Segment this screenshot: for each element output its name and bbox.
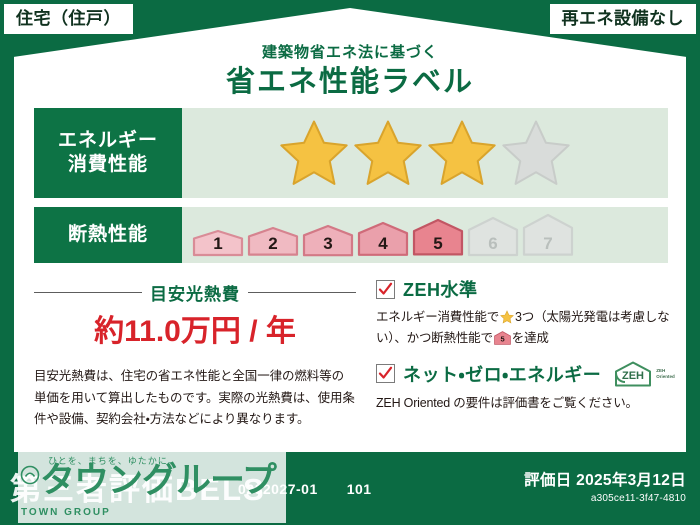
checkbox-zeh-standard[interactable] [376,280,395,299]
check-zeh-standard-head: ZEH水準 [376,276,675,302]
cost-section: 目安光熱費 約11.0万円 / 年 目安光熱費は、住宅の省エネ性能と全国一律の燃… [34,276,364,448]
check-net-zero-head: ネット・ゼロ・エネルギー ZEH ZEH Oriented [376,360,675,388]
logo-name-en: TOWN GROUP [21,507,111,518]
zeh-badge-sub: ZEH Oriented [656,368,675,378]
logo-name: タウングループ [40,463,276,498]
row-energy-label-line1: エネルギー [58,129,158,153]
zeh-section: ZEH水準 エネルギー消費性能で3つ（太陽光発電は考慮しない）、かつ断熱性能で5… [364,276,675,448]
inline-house-icon: 5 [494,331,511,345]
check-net-zero-title: ネット・ゼロ・エネルギー [403,361,601,387]
cost-note: 目安光熱費は、住宅の省エネ性能と全国一律の燃料等の単価を用いて算出したものです。… [34,366,356,431]
star-filled-icon [352,118,424,188]
insulation-grade-3: 3 [302,224,354,257]
insulation-grade-4: 4 [357,221,409,257]
svg-text:5: 5 [500,335,504,344]
energy-performance-label: 住宅（住戸） 再エネ設備なし 建築物省エネ法に基づく 省エネ性能ラベル エネルギ… [0,0,700,525]
check-net-zero-body: ZEH Oriented の要件は評価書をご覧ください。 [376,393,675,414]
checkbox-net-zero-energy[interactable] [376,364,395,383]
cost-rule-right [248,292,356,293]
star-filled-icon [426,118,498,188]
badge-renewable-energy: 再エネ設備なし [550,4,697,34]
lower-section: 目安光熱費 約11.0万円 / 年 目安光熱費は、住宅の省エネ性能と全国一律の燃… [34,276,668,448]
row-insulation-label-line1: 断熱性能 [68,223,148,247]
inline-star-icon [500,310,514,324]
row-energy-label: エネルギー 消費性能 [34,108,182,198]
check-zeh-standard: ZEH水準 エネルギー消費性能で3つ（太陽光発電は考慮しない）、かつ断熱性能で5… [376,276,675,350]
insulation-grade-7: 7 [522,213,574,257]
row-energy-value [182,108,668,198]
title-subtitle: 建築物省エネ法に基づく [0,44,700,62]
cost-rule-left [34,292,142,293]
cost-heading: 目安光熱費 [34,280,356,305]
insulation-grade-6: 6 [467,216,519,257]
title-main: 省エネ性能ラベル [0,64,700,100]
insulation-grade-label: 1 [192,235,244,252]
row-energy-consumption: エネルギー 消費性能 [34,108,668,198]
footer-evaluation-date: 評価日 2025年3月12日 [524,468,686,490]
title-block: 建築物省エネ法に基づく 省エネ性能ラベル [0,44,700,100]
cost-heading-text: 目安光熱費 [150,280,240,305]
check-zeh-standard-body: エネルギー消費性能で3つ（太陽光発電は考慮しない）、かつ断熱性能で5を達成 [376,307,675,350]
check-net-zero-energy: ネット・ゼロ・エネルギー ZEH ZEH Oriented ZEH Or [376,360,675,414]
zeh-body-post: を達成 [512,331,549,345]
insulation-grade-label: 5 [412,235,464,252]
insulation-grade-label: 3 [302,235,354,252]
zeh-logo-badge: ZEH ZEH Oriented [612,360,675,388]
footer-hash: a305ce11-3f47-4810 [524,493,686,504]
cost-amount: 約11.0万円 / 年 [34,315,356,348]
zeh-body-pre: エネルギー消費性能で [376,310,499,324]
insulation-grade-label: 6 [467,235,519,252]
row-energy-label-line2: 消費性能 [68,153,148,177]
agency-logo-watermark: ひとを、まちを、ゆたかに。 タウングループ TOWN GROUP [18,447,286,523]
insulation-grade-label: 4 [357,235,409,252]
insulation-grade-2: 2 [247,226,299,257]
logo-mark-icon [20,465,40,485]
zeh-badge-sub-line2: Oriented [656,374,675,379]
check-icon [378,366,393,381]
insulation-grade-label: 2 [247,235,299,252]
check-icon [378,282,393,297]
footer-right-block: 評価日 2025年3月12日 a305ce11-3f47-4810 [524,468,686,504]
insulation-grade-1: 1 [192,229,244,257]
insulation-grade-5: 5 [412,218,464,256]
star-filled-icon [278,118,350,188]
row-insulation-label: 断熱性能 [34,207,182,263]
row-insulation: 断熱性能 1234567 [34,207,668,263]
star-empty-icon [500,118,572,188]
badge-building-type: 住宅（住戸） [4,4,133,34]
insulation-grade-label: 7 [522,235,574,252]
zeh-house-icon: ZEH [612,360,654,388]
performance-rows: エネルギー 消費性能 断熱性能 1234567 [34,108,668,272]
star-rating [278,118,572,188]
house-rating: 1234567 [192,213,574,257]
check-zeh-standard-title: ZEH水準 [403,276,478,302]
svg-text:ZEH: ZEH [622,370,644,382]
row-insulation-value: 1234567 [182,207,668,263]
